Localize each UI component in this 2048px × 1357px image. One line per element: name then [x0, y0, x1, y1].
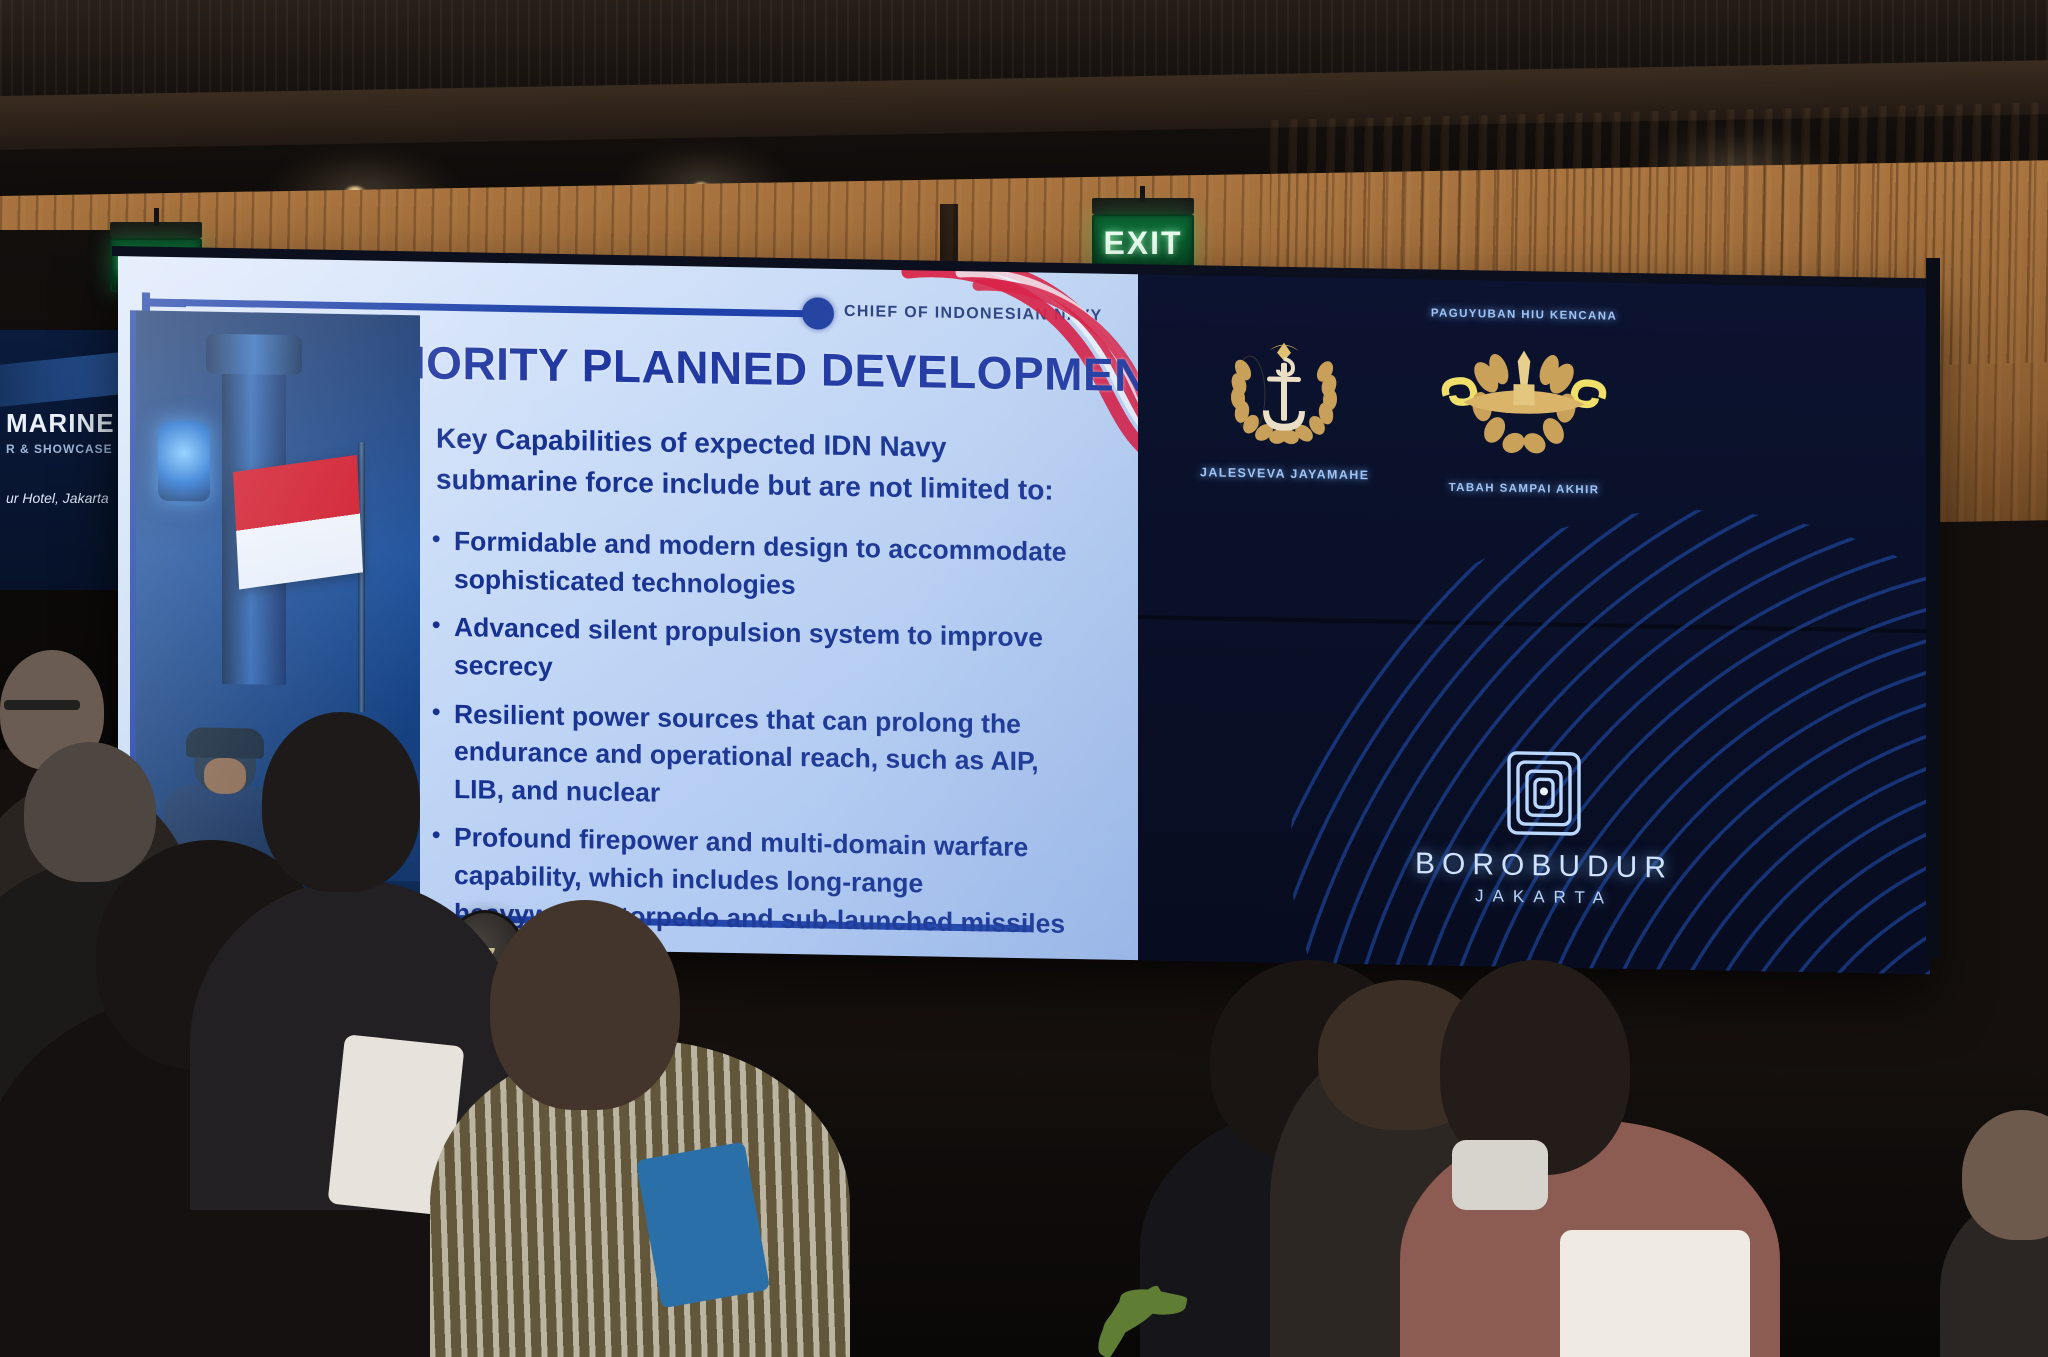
- bullet-text: Resilient power sources that can prolong…: [454, 695, 1088, 819]
- audience-head-4: [262, 712, 420, 892]
- presentation-slide: CHIEF OF INDONESIAN NAVY PRIORITY PLANNE…: [118, 252, 1138, 960]
- banner-line-2: R & SHOWCASE: [6, 442, 113, 456]
- list-item: • Advanced silent propulsion system to i…: [428, 609, 1088, 696]
- light-jacket: [1560, 1230, 1750, 1357]
- indonesian-flag: [233, 455, 363, 590]
- bullet-marker: •: [428, 523, 454, 599]
- conference-room-photo: EXIT EXIT MARINE R & SHOWCASE ur Hotel, …: [0, 0, 2048, 1357]
- slide-lead-paragraph: Key Capabilities of expected IDN Navy su…: [436, 418, 1076, 512]
- bullet-text: Advanced silent propulsion system to imp…: [454, 609, 1088, 696]
- borobudur-logo-icon: [1501, 747, 1587, 841]
- emblem-corps-top-text: PAGUYUBAN HIU KENCANA: [1426, 307, 1622, 322]
- sailor-face: [204, 758, 246, 795]
- list-item: • Resilient power sources that can prolo…: [428, 695, 1088, 820]
- led-wall-right-bezel: [1926, 258, 1940, 958]
- sailor-cap: [186, 727, 264, 758]
- exit-left-stem: [154, 208, 159, 226]
- emblem-corps-bottom-text: TABAH SAMPAI AKHIR: [1426, 481, 1622, 496]
- hotel-city: JAKARTA: [1475, 886, 1613, 908]
- exit-right-stem: [1140, 186, 1145, 202]
- emblem-submarine-corps: PAGUYUBAN HIU KENCANA: [1426, 305, 1622, 494]
- exit-right-label: EXIT: [1103, 225, 1182, 262]
- bullet-marker: •: [428, 609, 454, 685]
- bullet-marker: •: [428, 695, 454, 808]
- banner-line-3: ur Hotel, Jakarta: [6, 490, 109, 506]
- slide-accent-dot: [802, 297, 834, 330]
- periscope-head: [206, 334, 302, 376]
- slide-bullet-list: • Formidable and modern design to accomm…: [428, 523, 1088, 961]
- bullet-text: Formidable and modern design to accommod…: [454, 523, 1088, 610]
- audience-head-5: [490, 900, 680, 1110]
- eyeglasses: [4, 700, 80, 710]
- navy-crest-icon: [1223, 336, 1345, 450]
- emblem-navy-motto: JALESVEVA JAYAMAHE: [1200, 465, 1368, 482]
- hotel-logo-block: BOROBUDUR JAKARTA: [1334, 744, 1754, 951]
- banner-line-1: MARINE: [6, 408, 115, 439]
- audience-head-2: [24, 742, 156, 882]
- submarine-badge-icon: [1440, 341, 1608, 460]
- signal-light: [158, 421, 210, 502]
- led-right-panel: JALESVEVA JAYAMAHE PAGUYUBAN HIU KENCANA: [1138, 270, 1930, 974]
- hotel-name: BOROBUDUR: [1415, 847, 1673, 886]
- emblem-navy-crest: JALESVEVA JAYAMAHE: [1200, 307, 1368, 478]
- list-item: • Formidable and modern design to accomm…: [428, 523, 1088, 610]
- face-mask: [1452, 1140, 1548, 1210]
- flag-pole: [358, 442, 365, 712]
